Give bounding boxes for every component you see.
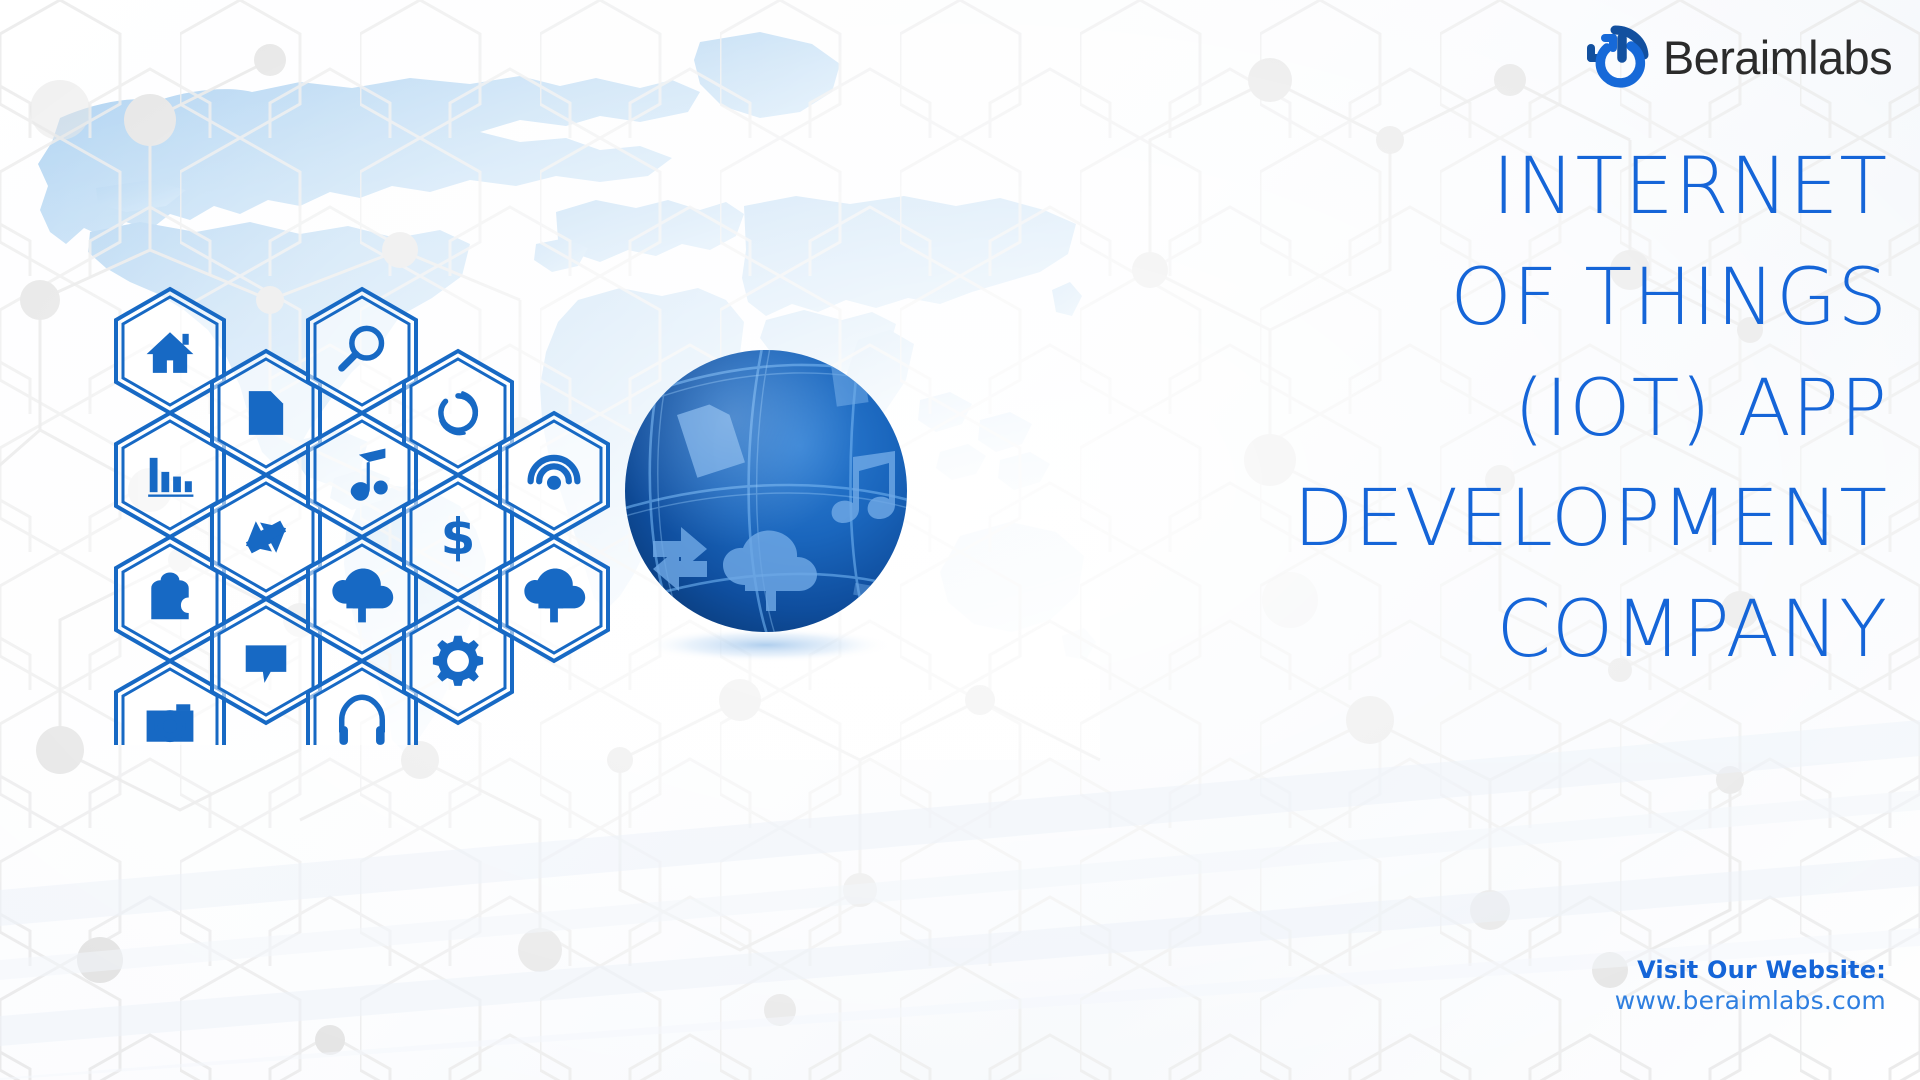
svg-text:$: $: [441, 508, 476, 566]
hexagon-tile: [308, 661, 416, 745]
headline-line-0: INTERNET: [1058, 132, 1888, 243]
gear-icon: [433, 636, 483, 686]
hexagon-tile: [116, 413, 224, 537]
headline-line-1: OF THINGS: [1058, 243, 1888, 354]
hexagon-tile: [500, 413, 608, 537]
headline-line-4: COMPANY: [1058, 575, 1888, 686]
page-title: INTERNETOF THINGS(IOT) APPDEVELOPMENTCOM…: [1058, 132, 1888, 686]
hexagon-tile: [308, 289, 416, 413]
headline-line-2: (IOT) APP: [1058, 354, 1888, 465]
banner-canvas: $: [0, 0, 1920, 1080]
dollar-icon: $: [441, 508, 476, 566]
brand-logo[interactable]: Beraimlabs: [1581, 24, 1892, 90]
iot-globe-sphere: [625, 345, 925, 675]
headline-line-3: DEVELOPMENT: [1058, 464, 1888, 575]
hexagon-tile: [308, 413, 416, 537]
brand-name: Beraimlabs: [1663, 34, 1892, 81]
cta-label: Visit Our Website:: [1615, 955, 1886, 985]
hexagon-tile: [404, 351, 512, 475]
website-cta[interactable]: Visit Our Website: www.beraimlabs.com: [1615, 955, 1886, 1017]
power-button-icon: [1581, 24, 1653, 90]
cta-url[interactable]: www.beraimlabs.com: [1615, 985, 1886, 1017]
